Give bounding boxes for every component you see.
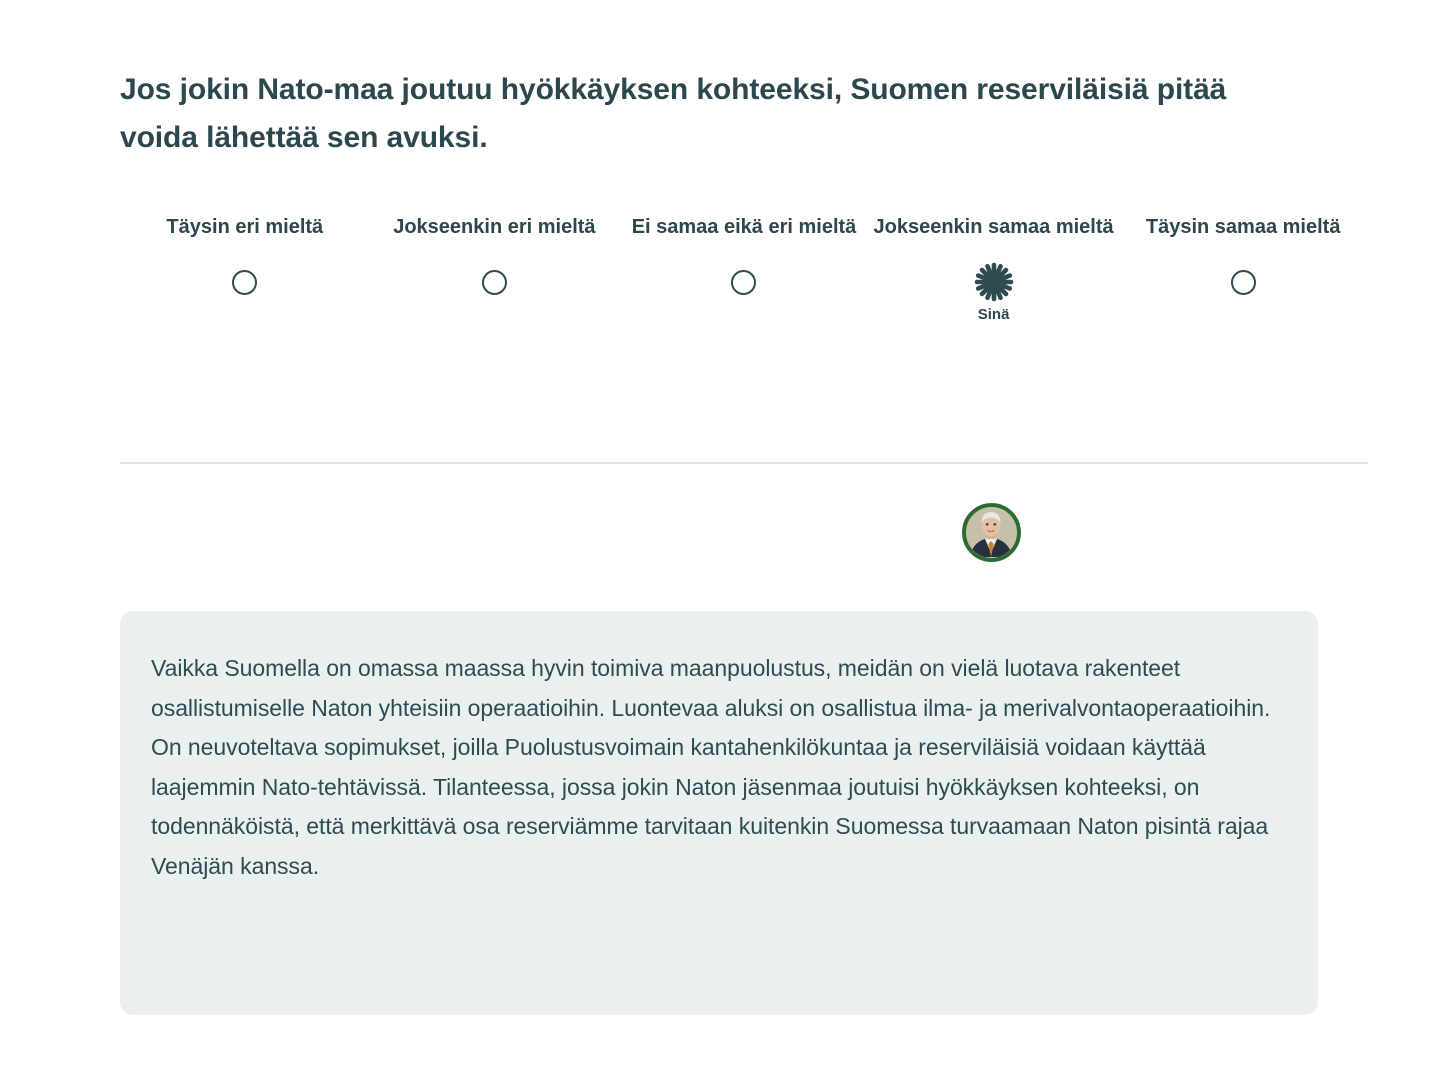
scale-option-5-slot: [1118, 270, 1368, 346]
likert-scale: Täysin eri mieltä Jokseenkin eri mieltä …: [120, 212, 1368, 346]
scale-option-4[interactable]: Jokseenkin samaa mieltä: [869, 212, 1119, 346]
candidate-answer-text: Vaikka Suomella on omassa maassa hyvin t…: [151, 649, 1274, 886]
avatar-ring: [962, 503, 1021, 562]
scale-option-2[interactable]: Jokseenkin eri mieltä: [370, 212, 620, 346]
radio-button-1[interactable]: [232, 270, 257, 295]
scale-option-1-label: Täysin eri mieltä: [120, 212, 370, 243]
radio-button-5[interactable]: [1231, 270, 1256, 295]
scale-option-1[interactable]: Täysin eri mieltä: [120, 212, 370, 346]
scale-option-4-label: Jokseenkin samaa mieltä: [869, 212, 1119, 243]
candidate-portrait: [966, 507, 1017, 558]
avatar[interactable]: [962, 503, 1021, 562]
scale-option-3-slot: [619, 270, 869, 346]
radio-button-3[interactable]: [731, 270, 756, 295]
candidate-answer-panel: Vaikka Suomella on omassa maassa hyvin t…: [120, 611, 1318, 1015]
radio-button-2[interactable]: [482, 270, 507, 295]
divider: [120, 462, 1368, 464]
scale-option-5-label: Täysin samaa mieltä: [1118, 212, 1368, 243]
your-answer-label: Sinä: [978, 306, 1010, 324]
asterisk-icon[interactable]: [973, 261, 1015, 303]
scale-option-3[interactable]: Ei samaa eikä eri mieltä: [619, 212, 869, 346]
scale-option-5[interactable]: Täysin samaa mieltä: [1118, 212, 1368, 346]
scale-option-2-slot: [370, 270, 620, 346]
scale-option-4-slot: Sinä: [869, 270, 1119, 346]
page-title: Jos jokin Nato-maa joutuu hyökkäyksen ko…: [120, 66, 1230, 162]
scale-option-3-label: Ei samaa eikä eri mieltä: [619, 212, 869, 243]
survey-question-card: Jos jokin Nato-maa joutuu hyökkäyksen ko…: [0, 0, 1441, 1071]
scale-option-2-label: Jokseenkin eri mieltä: [370, 212, 620, 243]
scale-option-1-slot: [120, 270, 370, 346]
